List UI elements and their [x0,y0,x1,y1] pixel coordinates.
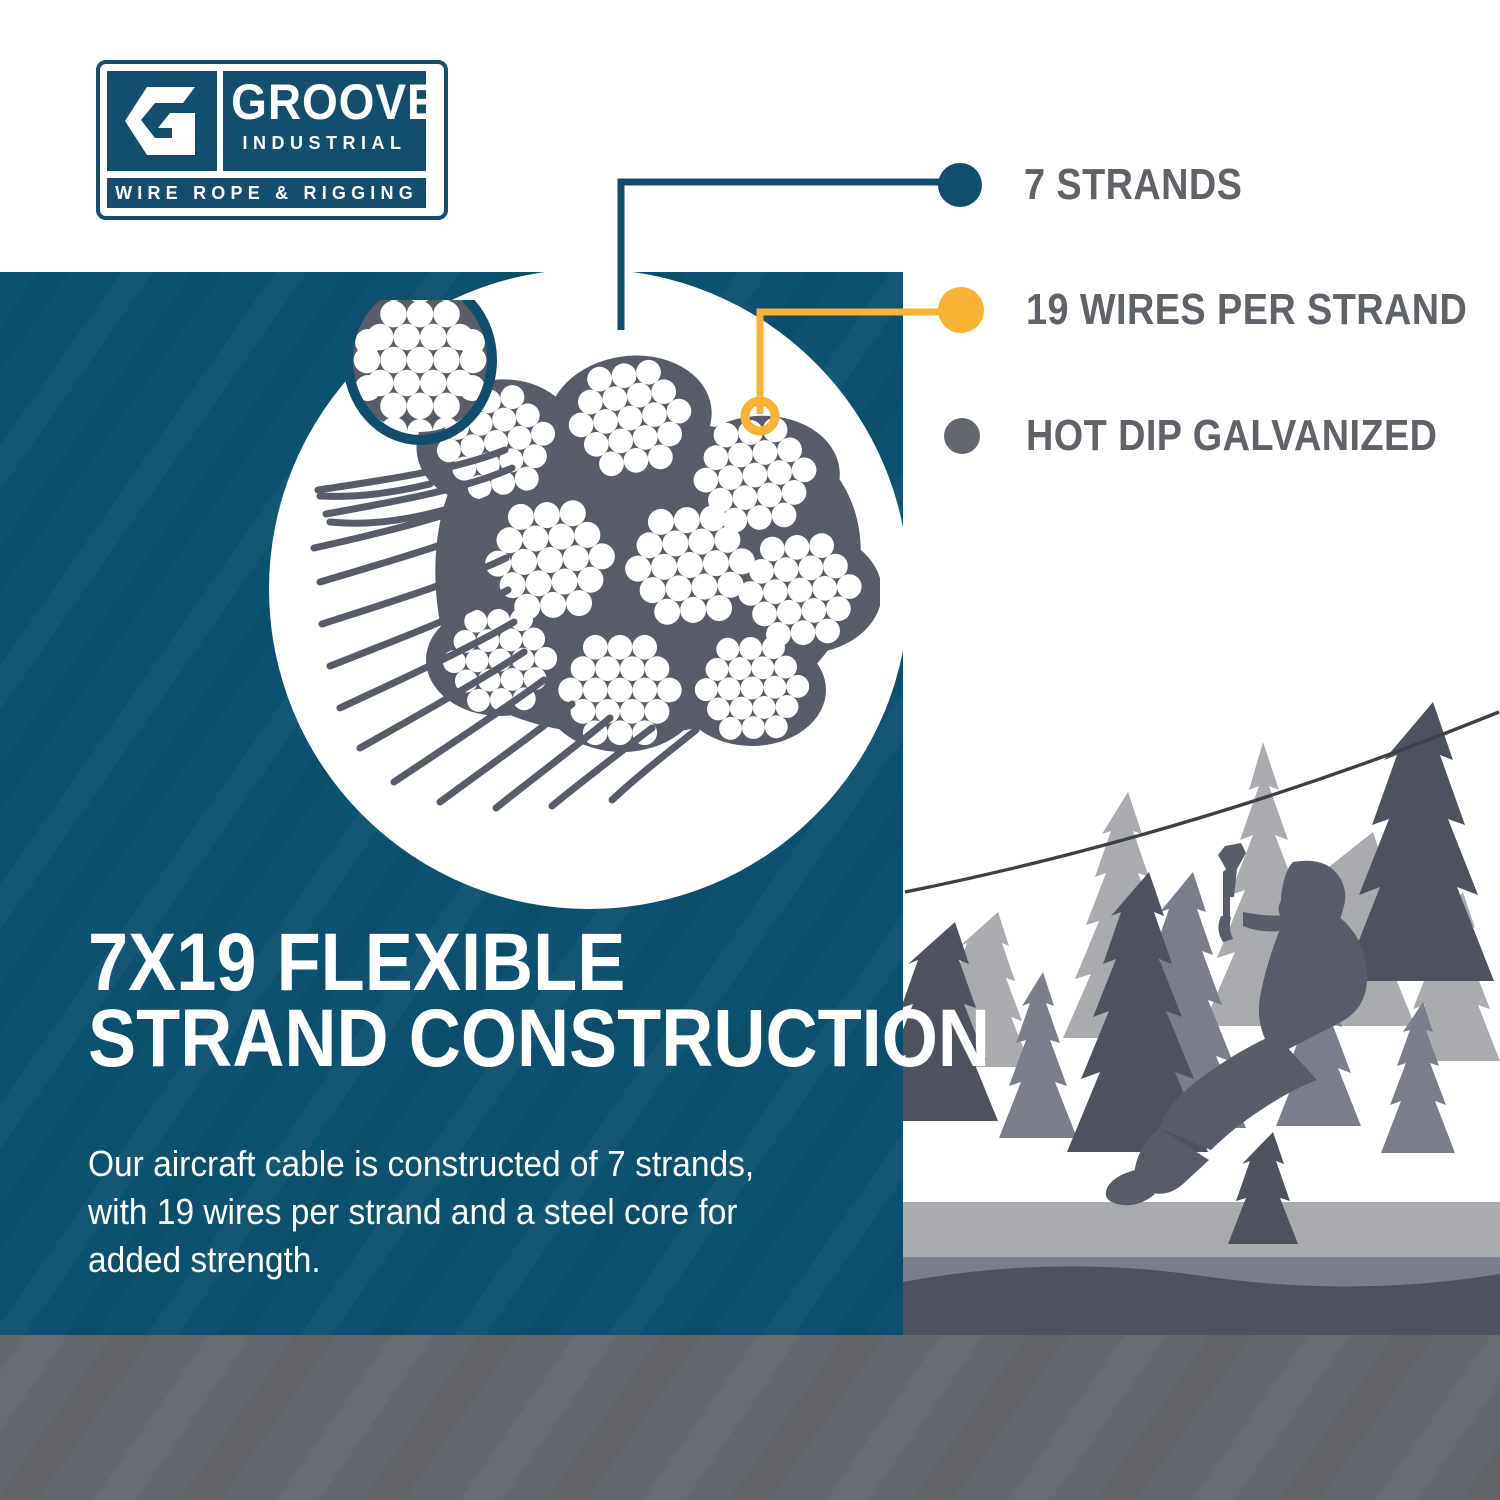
headline-line-2: STRAND CONSTRUCTION [88,1001,783,1077]
headline-line-1: 7X19 FLEXIBLE [88,925,783,1001]
connector-line-wires [760,312,955,414]
headline-block: 7X19 FLEXIBLE STRAND CONSTRUCTION [88,925,878,1077]
callout-dot-wires [938,287,984,333]
callout-label-galvanized: HOT DIP GALVANIZED [1026,413,1437,459]
callout-dot-galvanized [944,418,980,454]
callout-label-wires: 19 WIRES PER STRAND [1026,287,1467,333]
callout-label-strands: 7 STRANDS [1024,162,1242,208]
connector-anchor-ring [745,401,775,431]
callout-dot-strands [938,163,982,207]
callout-wires[interactable]: 19 WIRES PER STRAND [938,287,1500,333]
callout-strands[interactable]: 7 STRANDS [938,162,1278,208]
body-paragraph: Our aircraft cable is constructed of 7 s… [88,1140,758,1284]
callout-galvanized[interactable]: HOT DIP GALVANIZED [944,413,1500,459]
connector-line-strands [621,182,955,330]
infographic-canvas: GROOVE INDUSTRIAL WIRE ROPE & RIGGING [0,0,1500,1500]
